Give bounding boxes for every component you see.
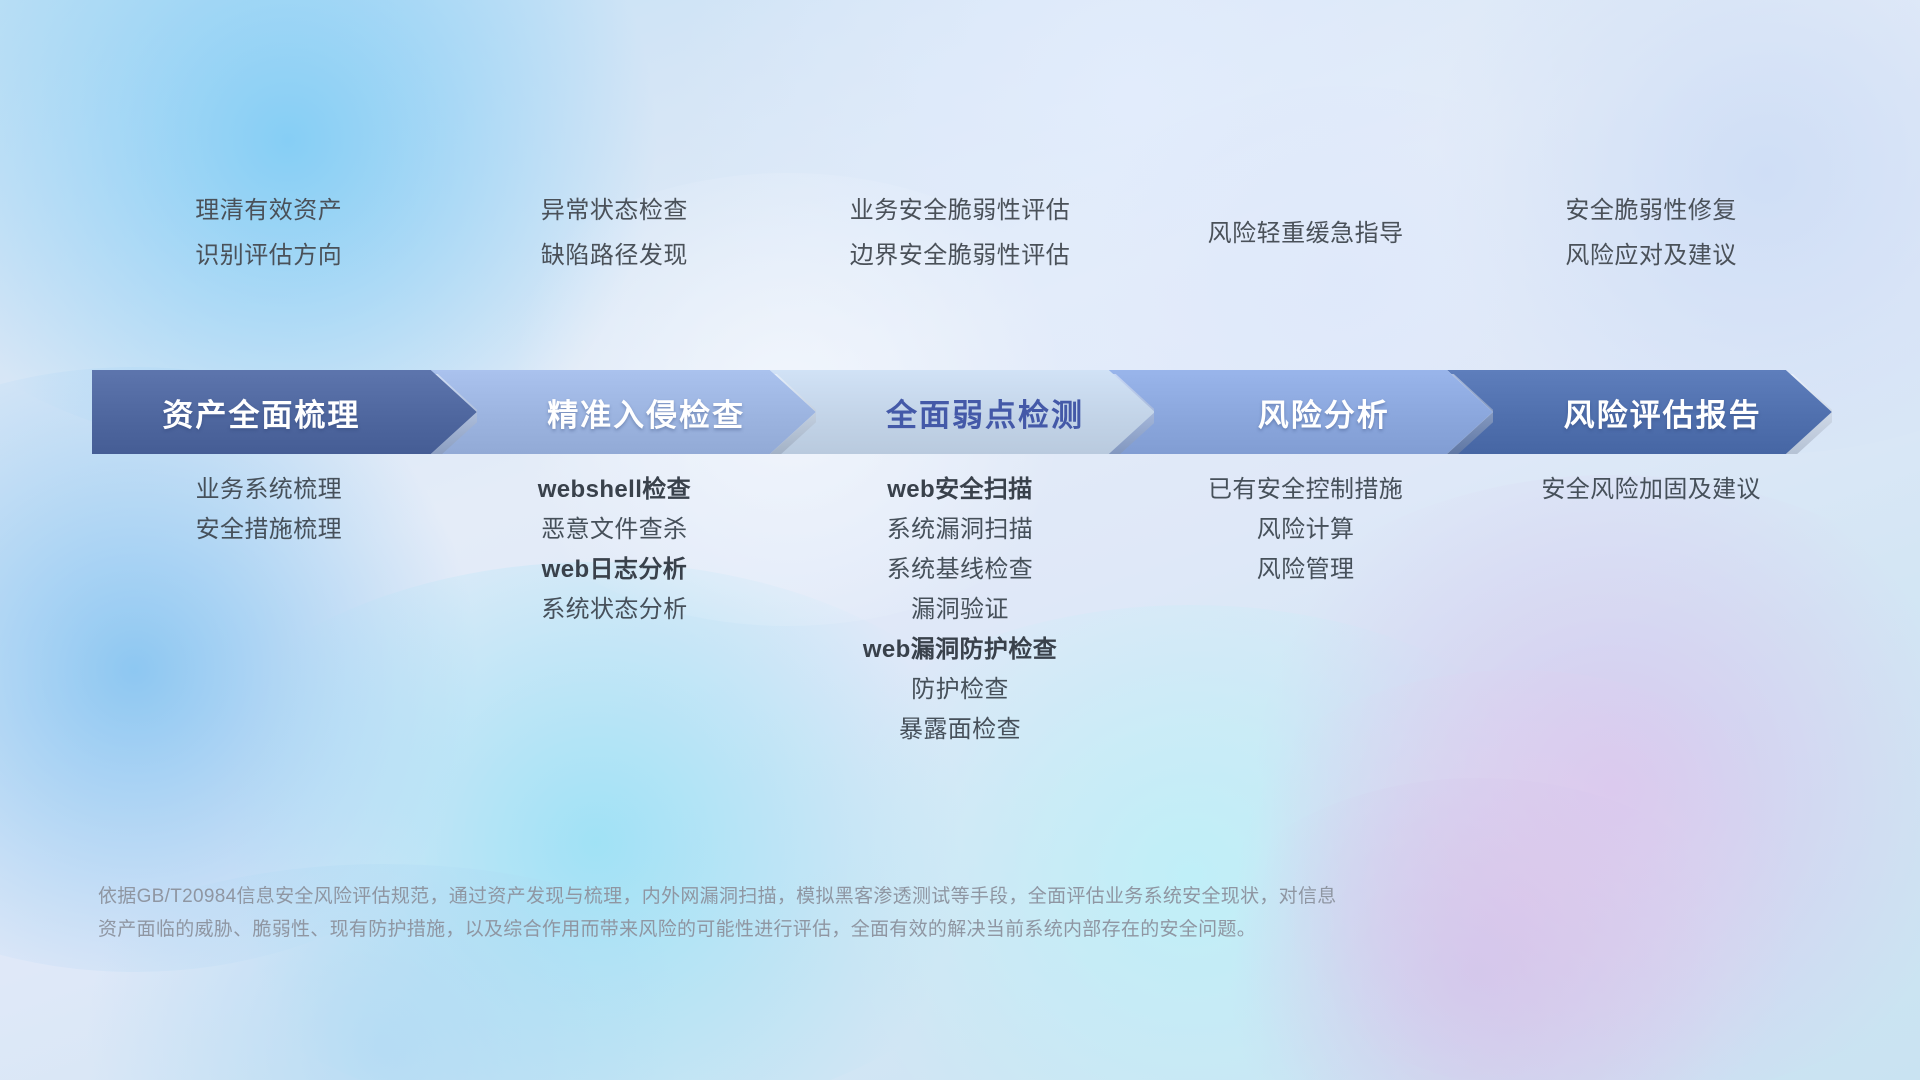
stage-item: 恶意文件查杀 (541, 510, 687, 549)
stage-title-risk-report: 风险评估报告 (1447, 390, 1832, 435)
stage-chevron-band: 资产全面梳理精准入侵检查全面弱点检测风险分析风险评估报告 (92, 370, 1832, 454)
top-notes-row: 理清有效资产识别评估方向异常状态检查缺陷路径发现业务安全脆弱性评估边界安全脆弱性… (96, 178, 1824, 288)
top-note-line: 理清有效资产 (195, 188, 342, 233)
stage-item: webshell检查 (538, 470, 691, 509)
stage-item: web漏洞防护检查 (863, 630, 1057, 669)
stage-item: 系统基线检查 (887, 550, 1033, 589)
stage-item: web安全扫描 (887, 470, 1032, 509)
stage-item: 暴露面检查 (899, 710, 1021, 749)
stage-title-asset-inventory: 资产全面梳理 (92, 390, 477, 435)
stage-chevron-risk-report[interactable]: 风险评估报告 (1447, 370, 1832, 454)
stage-chevron-risk-analysis[interactable]: 风险分析 (1108, 370, 1493, 454)
top-note-line: 安全脆弱性修复 (1565, 188, 1737, 233)
stage-items-risk-analysis: 已有安全控制措施风险计算风险管理 (1133, 470, 1479, 589)
stage-title-weakness-detection: 全面弱点检测 (770, 390, 1155, 435)
footer-line-2: 资产面临的威胁、脆弱性、现有防护措施，以及综合作用而带来风险的可能性进行评估，全… (98, 913, 1658, 946)
stage-chevron-weakness-detection[interactable]: 全面弱点检测 (770, 370, 1155, 454)
stage-item: 安全风险加固及建议 (1541, 470, 1761, 509)
stage-items-risk-report: 安全风险加固及建议 (1478, 470, 1824, 509)
stage-chevron-asset-inventory[interactable]: 资产全面梳理 (92, 370, 477, 454)
stage-item: 防护检查 (911, 670, 1009, 709)
stage-title-risk-analysis: 风险分析 (1108, 390, 1493, 435)
top-note-line: 风险轻重缓急指导 (1208, 211, 1404, 256)
stage-items-weakness-detection: web安全扫描系统漏洞扫描系统基线检查漏洞验证web漏洞防护检查防护检查暴露面检… (787, 470, 1133, 749)
stage-item: 业务系统梳理 (196, 470, 342, 509)
stage-item: 风险计算 (1257, 510, 1355, 549)
process-diagram: 理清有效资产识别评估方向异常状态检查缺陷路径发现业务安全脆弱性评估边界安全脆弱性… (0, 0, 1920, 1080)
stage-item: 系统漏洞扫描 (887, 510, 1033, 549)
top-note-line: 边界安全脆弱性评估 (850, 233, 1071, 278)
stage-item: 安全措施梳理 (196, 510, 342, 549)
stage-item: web日志分析 (542, 550, 687, 589)
footer-description: 依据GB/T20984信息安全风险评估规范，通过资产发现与梳理，内外网漏洞扫描，… (98, 880, 1658, 946)
stage-item: 漏洞验证 (911, 590, 1009, 629)
top-note-line: 业务安全脆弱性评估 (850, 188, 1071, 233)
top-note-line: 缺陷路径发现 (541, 233, 688, 278)
stage-item: 已有安全控制措施 (1208, 470, 1403, 509)
top-notes-weakness-detection: 业务安全脆弱性评估边界安全脆弱性评估 (787, 178, 1133, 288)
stage-item: 风险管理 (1257, 550, 1355, 589)
stage-items-asset-inventory: 业务系统梳理安全措施梳理 (96, 470, 442, 549)
top-note-line: 识别评估方向 (195, 233, 342, 278)
top-note-line: 风险应对及建议 (1565, 233, 1737, 278)
footer-line-1: 依据GB/T20984信息安全风险评估规范，通过资产发现与梳理，内外网漏洞扫描，… (98, 880, 1658, 913)
top-notes-risk-report: 安全脆弱性修复风险应对及建议 (1478, 178, 1824, 288)
stage-item: 系统状态分析 (541, 590, 687, 629)
top-notes-asset-inventory: 理清有效资产识别评估方向 (96, 178, 442, 288)
stage-items-intrusion-check: webshell检查恶意文件查杀web日志分析系统状态分析 (442, 470, 788, 629)
top-notes-intrusion-check: 异常状态检查缺陷路径发现 (442, 178, 788, 288)
stage-items-row: 业务系统梳理安全措施梳理webshell检查恶意文件查杀web日志分析系统状态分… (96, 470, 1824, 749)
stage-title-intrusion-check: 精准入侵检查 (431, 390, 816, 435)
top-note-line: 异常状态检查 (541, 188, 688, 233)
top-notes-risk-analysis: 风险轻重缓急指导 (1133, 178, 1479, 288)
stage-chevron-intrusion-check[interactable]: 精准入侵检查 (431, 370, 816, 454)
